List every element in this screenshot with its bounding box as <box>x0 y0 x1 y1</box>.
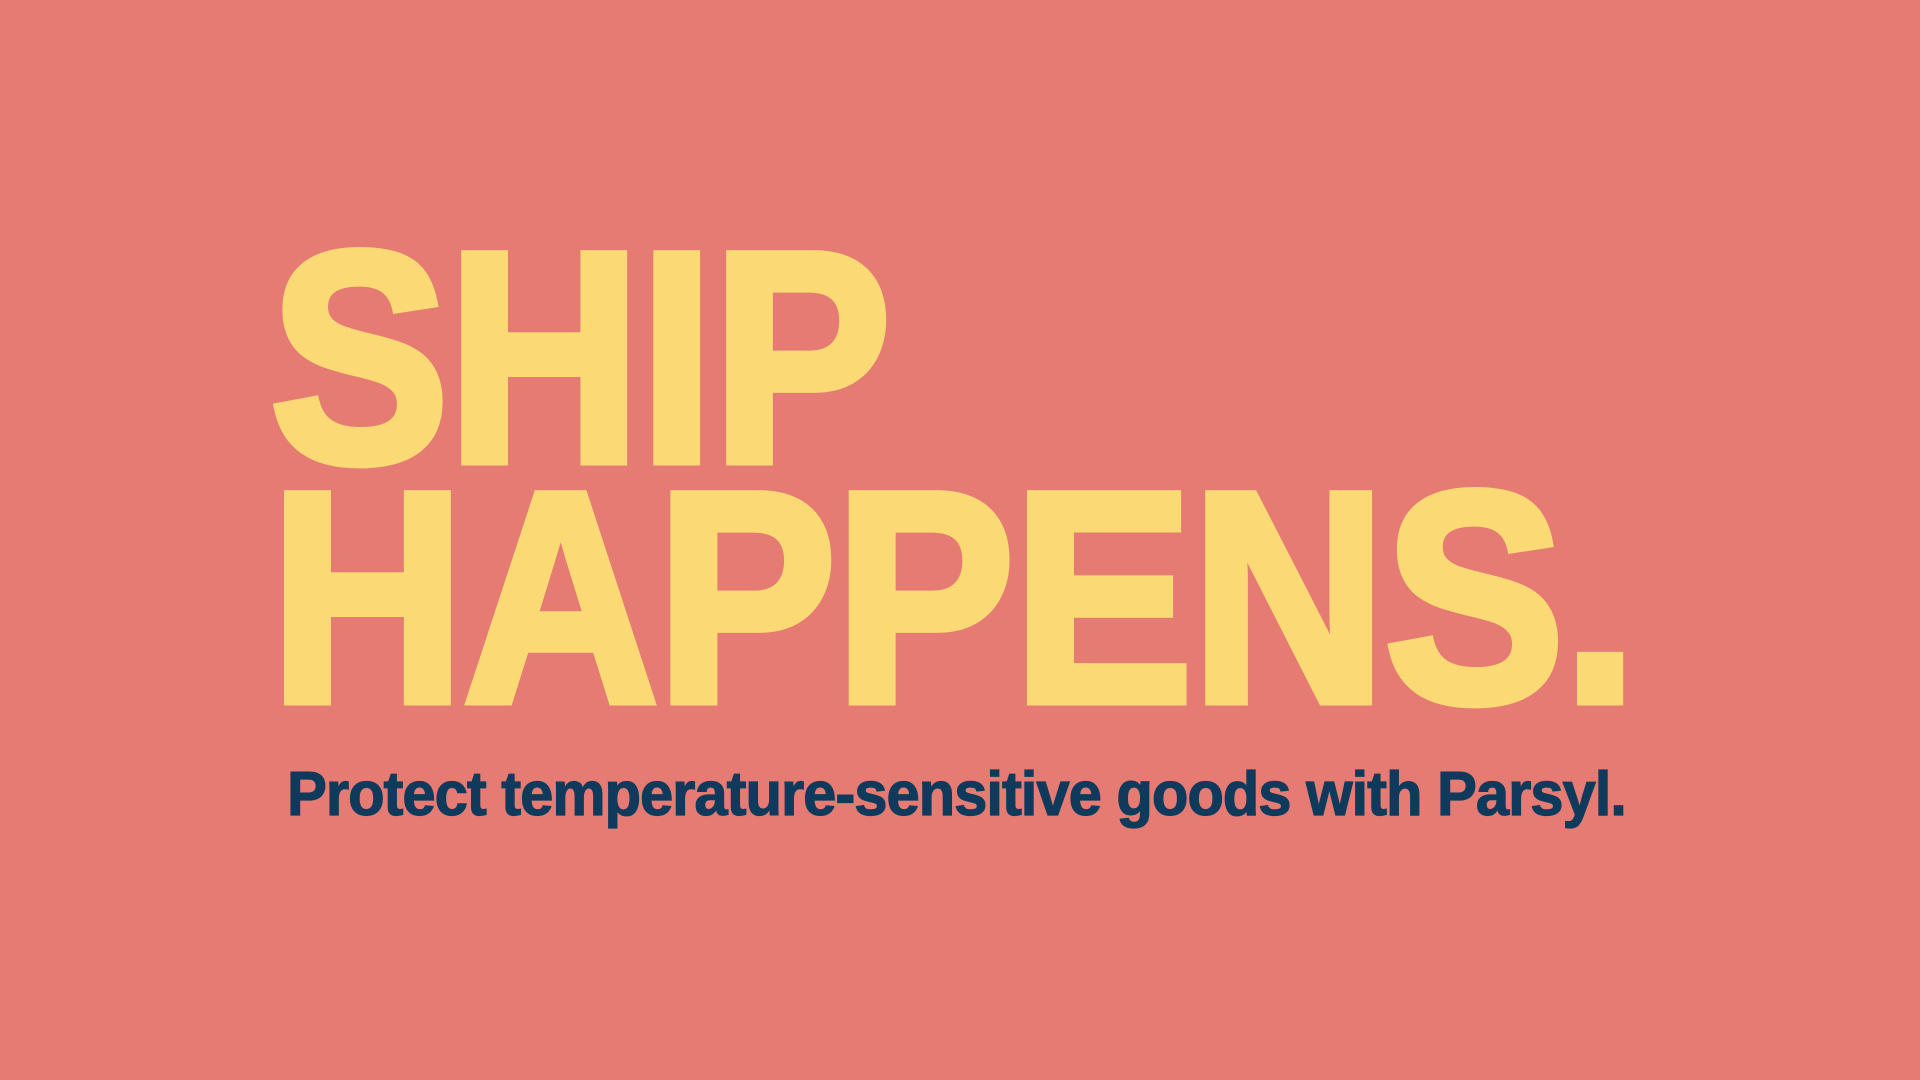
headline-block: SHIP HAPPENS. <box>270 238 1690 716</box>
subtitle-tagline: Protect temperature-sensitive goods with… <box>287 762 1626 828</box>
headline-line-happens: HAPPENS. <box>270 478 1548 716</box>
poster-canvas: SHIP HAPPENS. Protect temperature-sensit… <box>0 0 1920 1080</box>
